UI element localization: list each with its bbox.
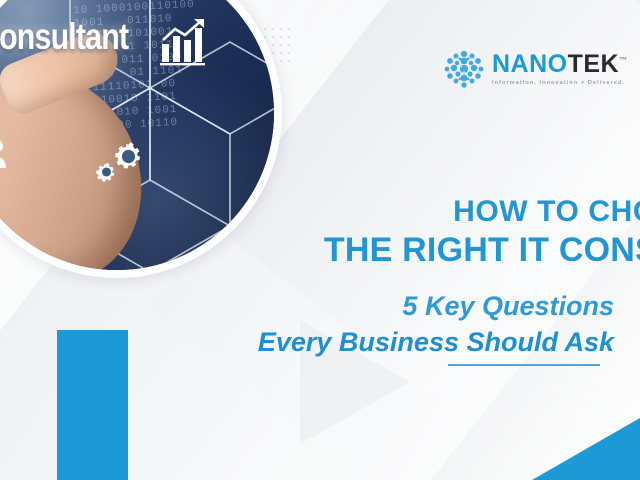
presentation-slide: 011010 1001 10 1000100110100 1001 011010… — [0, 0, 640, 480]
bar-chart-growth-icon — [158, 18, 208, 66]
headline-block: HOW TO CHOOSE THE RIGHT IT CONSULTANT — [0, 196, 640, 268]
subtitle-line-1: 5 Key Questions — [0, 289, 614, 325]
nanotek-logo[interactable]: NANOTEK™ Information. Innovation > Deliv… — [443, 48, 628, 90]
logo-tagline: Information. Innovation > Delivered. — [492, 81, 628, 87]
gears-settings-icon — [88, 138, 150, 188]
corner-accent-triangle — [532, 418, 640, 480]
logo-trademark: ™ — [619, 55, 628, 64]
subtitle-block: 5 Key Questions Every Business Should As… — [0, 289, 614, 360]
logo-word-tek: TEK — [568, 50, 620, 78]
people-group-icon — [0, 134, 10, 174]
logo-wordmark: NANOTEK™ — [492, 52, 628, 77]
consultant-label: Consultant — [0, 16, 128, 58]
subtitle-underline — [448, 364, 600, 366]
subtitle-line-2: Every Business Should Ask — [0, 325, 614, 361]
headline-line-1: HOW TO CHOOSE — [0, 196, 640, 228]
logo-word-nano: NANO — [492, 50, 568, 78]
headline-line-2: THE RIGHT IT CONSULTANT — [0, 232, 640, 268]
nanotek-dot-cluster-icon — [443, 48, 485, 90]
